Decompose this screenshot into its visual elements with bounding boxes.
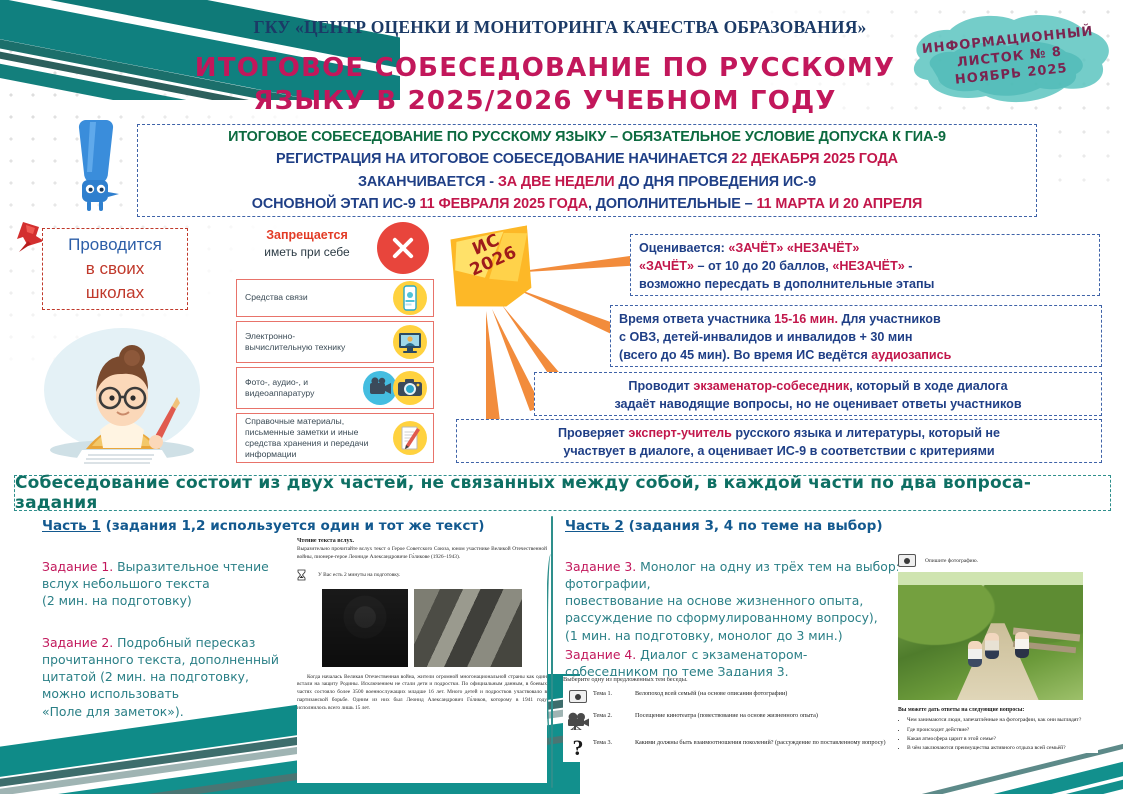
prohibited-title: Запрещается	[242, 228, 372, 242]
part2-task4: Задание 4. Диалог с экзаменатором- собес…	[565, 629, 865, 680]
key-line-3: ЗАКАНЧИВАЕТСЯ - ЗА ДВЕ НЕДЕЛИ ДО ДНЯ ПРО…	[358, 171, 816, 193]
theme-label: Тема 3.	[593, 739, 635, 746]
prohibited-item-text: Электронно- вычислительную технику	[241, 331, 393, 353]
theme-text: Какими должны быть взаимоотношения покол…	[635, 739, 888, 747]
part1-heading: Часть 1 (задания 1,2 используется один и…	[42, 518, 485, 534]
scan-heading: Чтение текста вслух.	[297, 538, 547, 544]
movie-camera-icon	[563, 712, 593, 735]
timing-line-2: с ОВЗ, детей-инвалидов и инвалидов + 30 …	[619, 329, 1093, 347]
part1-text-scan: Чтение текста вслух. Выразительно прочит…	[297, 538, 547, 783]
task3-label: Задание 3.	[565, 559, 636, 574]
task2-label: Задание 2.	[42, 635, 113, 650]
video-camera-icon	[363, 371, 397, 405]
column-divider	[551, 516, 553, 788]
page-title-line-2: ЯЗЫКУ В 2025/2026 УЧЕБНОМ ГОДУ	[150, 85, 940, 118]
prohibited-item-text: Фото-, аудио-, и видеоаппаратуру	[241, 377, 363, 399]
key-dates-box: ИТОГОВОЕ СОБЕСЕДОВАНИЕ ПО РУССКОМУ ЯЗЫКУ…	[137, 124, 1037, 217]
is-2026-sticky-note: ИС 2026	[448, 225, 537, 312]
scan-body: Когда началась Великая Отечественная вой…	[297, 674, 547, 713]
grading-line-3: возможно пересдать в дополнительные этап…	[639, 276, 1091, 294]
scan-timer-row: У Вас есть 2 минуты на подготовку.	[297, 569, 547, 581]
scan-timer-note: У Вас есть 2 минуты на подготовку.	[318, 572, 400, 578]
part1-task2: Задание 2. Подробный пересказ прочитанно…	[42, 617, 297, 720]
prohibited-item-row: Фото-, аудио-, и видеоаппаратуру	[236, 367, 434, 409]
wartime-photo	[414, 589, 522, 667]
exclamation-mascot-icon	[70, 118, 122, 213]
themes-list: Тема 1. Велопоход всей семьёй (на основе…	[563, 690, 888, 758]
organization-title: ГКУ «ЦЕНТР ОЦЕНКИ И МОНИТОРИНГА КАЧЕСТВА…	[180, 17, 940, 38]
questions-title: Вы можете дать ответы на следующие вопро…	[898, 707, 1024, 713]
key-line-4: ОСНОВНОЙ ЭТАП ИС-9 11 ФЕВРАЛЯ 2025 ГОДА,…	[252, 193, 923, 215]
key-line-1: ИТОГОВОЕ СОБЕСЕДОВАНИЕ ПО РУССКОМУ ЯЗЫКУ…	[228, 126, 946, 148]
timing-info-box: Время ответа участника 15-16 мин. Для уч…	[610, 305, 1102, 367]
task1-label: Задание 1.	[42, 559, 113, 574]
part1-task1: Задание 1. Выразительное чтение вслух не…	[42, 541, 292, 609]
part2-heading-rest: (задания 3, 4 по теме на выбор)	[624, 518, 883, 534]
task4-label: Задание 4.	[565, 647, 636, 662]
prohibited-item-text: Средства связи	[241, 292, 393, 303]
part2-heading: Часть 2 (задания 3, 4 по теме на выбор)	[565, 518, 883, 534]
question-item: Какая атмосфера царит в этой семье?	[907, 735, 1098, 743]
notes-icon	[393, 421, 427, 455]
theme-row: ? Тема 3. Какими должны быть взаимоотнош…	[563, 739, 888, 758]
expert-line-2: участвует в диалоге, а оценивает ИС-9 в …	[465, 443, 1093, 461]
theme-text: Велопоход всей семьёй (на основе описани…	[635, 690, 888, 698]
conducted-at-school-box: Проводится в своих школах	[42, 228, 188, 310]
timing-line-1: Время ответа участника 15-16 мин. Для уч…	[619, 311, 1093, 329]
theme-text: Посещение кинотеатра (повествование на о…	[635, 712, 888, 720]
themes-intro: Выберите одну из предложенных тем беседы…	[563, 676, 888, 683]
prohibited-item-row: Средства связи	[236, 279, 434, 317]
prohibited-subtitle: иметь при себе	[242, 245, 372, 259]
smartphone-icon	[393, 281, 427, 315]
conducted-line-1: Проводится	[68, 233, 162, 257]
forbidden-cross-icon	[377, 222, 429, 274]
computer-icon	[393, 325, 427, 359]
key-line-2: РЕГИСТРАЦИЯ НА ИТОГОВОЕ СОБЕСЕДОВАНИЕ НА…	[276, 148, 898, 170]
page-title-line-1: ИТОГОВОЕ СОБЕСЕДОВАНИЕ ПО РУССКОМУ	[150, 52, 940, 85]
camera-icon	[563, 690, 593, 708]
question-item: Чем занимаются люди, запечатлённые на фо…	[907, 716, 1098, 724]
part1-label: Часть 1	[42, 518, 101, 534]
examiner-line-1: Проводит экзаменатор-собеседник, который…	[543, 378, 1093, 396]
scan-photos	[297, 589, 547, 667]
photo-task-scan: Опишите фотографию. Вы можете дать ответ…	[898, 554, 1098, 753]
scan-paragraph: Выразительно прочитайте вслух текст о Ге…	[297, 546, 547, 562]
part2-label: Часть 2	[565, 518, 624, 534]
issue-badge: ИНФОРМАЦИОННЫЙ ЛИСТОК № 8 НОЯБРЬ 2025	[902, 6, 1117, 114]
theme-label: Тема 1.	[593, 690, 635, 697]
conducted-line-2: в своих	[86, 257, 145, 281]
question-mark-icon: ?	[563, 739, 593, 758]
expert-info-box: Проверяет эксперт-учитель русского языка…	[456, 419, 1102, 463]
structure-banner: Собеседование состоит из двух частей, не…	[14, 475, 1111, 511]
photo-caption: Опишите фотографию.	[925, 558, 978, 564]
part1-heading-rest: (задания 1,2 используется один и тот же …	[101, 518, 485, 534]
student-writing-illustration	[22, 318, 222, 468]
theme-label: Тема 2.	[593, 712, 635, 719]
timing-line-3: (всего до 45 мин). Во время ИС ведётся а…	[619, 347, 1093, 365]
poster-root: ГКУ «ЦЕНТР ОЦЕНКИ И МОНИТОРИНГА КАЧЕСТВА…	[0, 0, 1123, 794]
grading-line-2: «ЗАЧЁТ» – от 10 до 20 баллов, «НЕЗАЧЁТ» …	[639, 258, 1091, 276]
page-title: ИТОГОВОЕ СОБЕСЕДОВАНИЕ ПО РУССКОМУ ЯЗЫКУ…	[150, 52, 940, 119]
family-cycling-photo	[898, 572, 1083, 700]
grading-info-box: Оценивается: «ЗАЧЁТ» «НЕЗАЧЁТ» «ЗАЧЁТ» –…	[630, 234, 1100, 296]
prohibited-item-text: Справочные материалы, письменные заметки…	[241, 416, 393, 461]
hourglass-icon	[297, 569, 306, 581]
photo-questions: Вы можете дать ответы на следующие вопро…	[898, 706, 1098, 752]
grading-line-1: Оценивается: «ЗАЧЁТ» «НЕЗАЧЁТ»	[639, 240, 1091, 258]
questions-list: Чем занимаются люди, запечатлённые на фо…	[898, 716, 1098, 751]
prohibited-item-row: Электронно- вычислительную технику	[236, 321, 434, 363]
camera-icon	[898, 554, 916, 567]
expert-line-1: Проверяет эксперт-учитель русского языка…	[465, 425, 1093, 443]
conducted-line-3: школах	[86, 281, 144, 305]
prohibited-item-row: Справочные материалы, письменные заметки…	[236, 413, 434, 463]
theme-row: Тема 1. Велопоход всей семьёй (на основе…	[563, 690, 888, 708]
photo-caption-row: Опишите фотографию.	[898, 554, 1098, 567]
soldier-portrait-photo	[322, 589, 408, 667]
camera-icon	[393, 371, 427, 405]
themes-scan: Выберите одну из предложенных тем беседы…	[563, 676, 888, 762]
question-item: В чём заключаются преимущества активного…	[907, 744, 1098, 752]
theme-row: Тема 2. Посещение кинотеатра (повествова…	[563, 712, 888, 735]
question-item: Где происходит действие?	[907, 726, 1098, 734]
examiner-line-2: задаёт наводящие вопросы, но не оценивае…	[543, 396, 1093, 414]
examiner-info-box: Проводит экзаменатор-собеседник, который…	[534, 372, 1102, 416]
prohibited-items-block: Запрещается иметь при себе Средства связ…	[232, 226, 437, 466]
